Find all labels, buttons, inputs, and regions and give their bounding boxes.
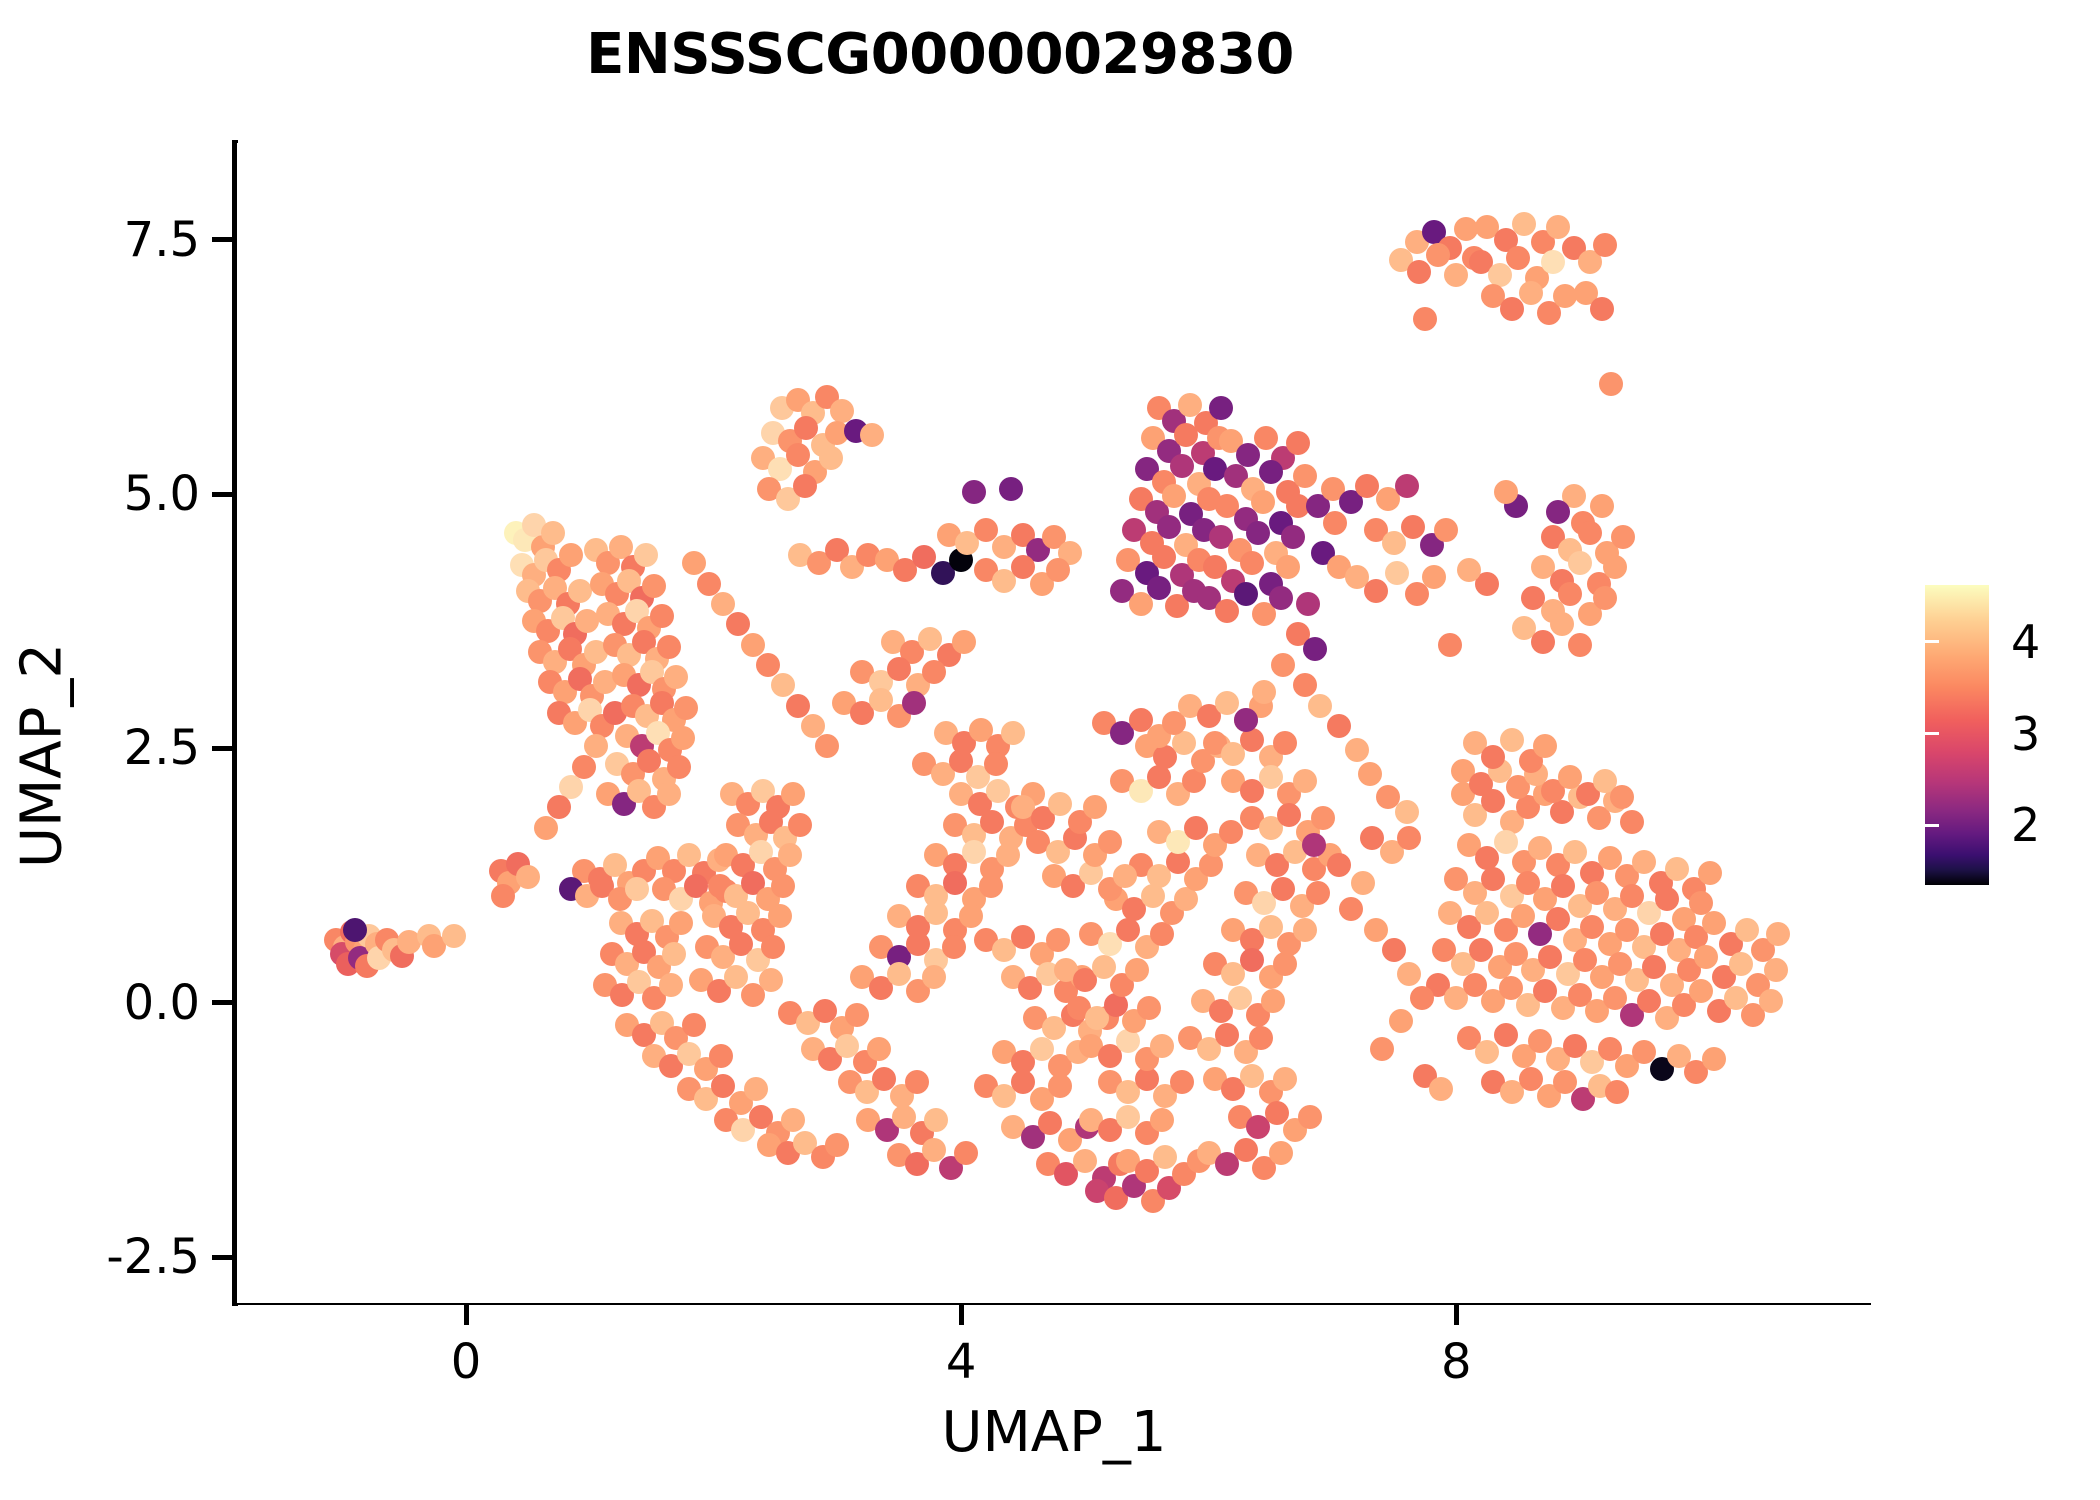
scatter-point	[1184, 816, 1208, 840]
scatter-point	[1500, 728, 1524, 752]
scatter-point	[1246, 521, 1270, 545]
scatter-point	[1240, 551, 1264, 575]
scatter-point	[1215, 599, 1239, 623]
scatter-point	[516, 865, 540, 889]
scatter-point	[1426, 243, 1450, 267]
scatter-point	[1519, 281, 1543, 305]
scatter-point	[1137, 996, 1161, 1020]
y-axis-tick-label: 7.5	[44, 212, 200, 268]
scatter-point	[942, 935, 966, 959]
scatter-point	[1234, 1138, 1258, 1162]
scatter-point	[1563, 840, 1587, 864]
scatter-point	[1729, 952, 1753, 976]
scatter-point	[343, 918, 367, 942]
scatter-point	[568, 579, 592, 603]
scatter-point	[999, 477, 1023, 501]
scatter-point	[1568, 633, 1592, 657]
scatter-point	[634, 543, 658, 567]
scatter-point	[1296, 592, 1320, 616]
scatter-point	[1494, 1023, 1518, 1047]
scatter-point	[1150, 922, 1174, 946]
scatter-point	[1293, 769, 1317, 793]
scatter-point	[1277, 803, 1301, 827]
x-axis-title: UMAP_1	[237, 1400, 1871, 1465]
colorbar-legend: 234	[1925, 585, 2090, 905]
colorbar-tick	[1925, 732, 1939, 735]
scatter-point	[1397, 962, 1421, 986]
scatter-point	[1302, 833, 1326, 857]
scatter-point	[1273, 1067, 1297, 1091]
scatter-point	[1030, 1037, 1054, 1061]
y-axis-tick-label: -2.5	[44, 1229, 200, 1285]
y-axis-tick	[212, 746, 232, 751]
x-axis-tick	[959, 1305, 964, 1325]
scatter-point	[1481, 745, 1505, 769]
scatter-point	[1568, 551, 1592, 575]
scatter-point	[442, 924, 466, 948]
scatter-point	[1364, 579, 1388, 603]
scatter-point	[801, 714, 825, 738]
scatter-point	[1358, 762, 1382, 786]
scatter-point	[1083, 795, 1107, 819]
scatter-point	[1351, 871, 1375, 895]
scatter-point	[674, 696, 698, 720]
chart-root: ENSSSCG00000029830 -2.50.02.55.07.5 048 …	[0, 0, 2100, 1500]
colorbar-tick-label: 4	[2011, 615, 2040, 669]
scatter-point	[1327, 714, 1351, 738]
scatter-point	[1150, 1108, 1174, 1132]
scatter-point	[1147, 576, 1171, 600]
y-axis-tick	[212, 237, 232, 242]
scatter-point	[664, 665, 688, 689]
colorbar-tick-label: 3	[2011, 707, 2040, 761]
scatter-point	[1046, 558, 1070, 582]
scatter-point	[771, 874, 795, 898]
scatter-point	[1327, 853, 1351, 877]
scatter-point	[1395, 800, 1419, 824]
scatter-point	[1702, 911, 1726, 935]
scatter-point	[788, 813, 812, 837]
scatter-point	[559, 543, 583, 567]
scatter-point	[1410, 986, 1434, 1010]
scatter-point	[1546, 907, 1570, 931]
colorbar-tick	[2076, 640, 2090, 643]
scatter-point	[1261, 989, 1285, 1013]
scatter-point	[547, 795, 571, 819]
scatter-point	[1048, 1074, 1072, 1098]
scatter-point	[922, 660, 946, 684]
scatter-point	[1252, 680, 1276, 704]
scatter-point	[1011, 1070, 1035, 1094]
scatter-point	[541, 521, 565, 545]
scatter-point	[1593, 233, 1617, 257]
scatter-point	[1759, 989, 1783, 1013]
scatter-point	[671, 726, 695, 750]
scatter-point	[1512, 212, 1536, 236]
scatter-point	[1531, 630, 1555, 654]
scatter-point	[1546, 215, 1570, 239]
scatter-point	[1620, 810, 1644, 834]
scatter-panel	[237, 143, 1871, 1303]
scatter-point	[1665, 857, 1689, 881]
scatter-point	[819, 446, 843, 470]
x-axis-tick-label: 4	[881, 1334, 1041, 1390]
scatter-point	[1382, 938, 1406, 962]
scatter-point	[984, 752, 1008, 776]
scatter-point	[1073, 1149, 1097, 1173]
scatter-point	[1038, 1111, 1062, 1135]
scatter-point	[534, 816, 558, 840]
scatter-point	[642, 574, 666, 598]
scatter-point	[1234, 708, 1258, 732]
scatter-point	[1011, 555, 1035, 579]
scatter-point	[1308, 694, 1332, 718]
scatter-point	[1766, 922, 1790, 946]
scatter-point	[1303, 637, 1327, 661]
scatter-point	[786, 694, 810, 718]
scatter-point	[1655, 887, 1679, 911]
scatter-point	[709, 1044, 733, 1068]
scatter-point	[491, 884, 515, 908]
x-axis-tick	[1454, 1305, 1459, 1325]
colorbar-tick	[2076, 732, 2090, 735]
scatter-point	[1422, 565, 1446, 589]
scatter-point	[1125, 958, 1149, 982]
scatter-point	[1401, 515, 1425, 539]
scatter-point	[905, 1070, 929, 1094]
scatter-point	[1269, 586, 1293, 610]
scatter-point	[1593, 586, 1617, 610]
scatter-point	[697, 572, 721, 596]
scatter-point	[952, 630, 976, 654]
scatter-point	[1271, 653, 1295, 677]
scatter-point	[682, 1013, 706, 1037]
scatter-point	[1610, 785, 1634, 809]
scatter-point	[1370, 1037, 1394, 1061]
scatter-point	[1494, 830, 1518, 854]
scatter-point	[1098, 830, 1122, 854]
scatter-point	[1271, 877, 1295, 901]
scatter-point	[1170, 454, 1194, 478]
scatter-point	[1764, 958, 1788, 982]
scatter-point	[1345, 738, 1369, 762]
scatter-point	[1249, 1026, 1273, 1050]
scatter-point	[1001, 721, 1025, 745]
scatter-point	[1219, 820, 1243, 844]
scatter-point	[761, 935, 785, 959]
scatter-point	[1116, 918, 1140, 942]
scatter-point	[667, 755, 691, 779]
scatter-point	[657, 782, 681, 806]
scatter-point	[1590, 494, 1614, 518]
scatter-point	[781, 1108, 805, 1132]
scatter-point	[1385, 561, 1409, 585]
scatter-point	[1150, 1034, 1174, 1058]
scatter-point	[1444, 263, 1468, 287]
scatter-point	[1011, 925, 1035, 949]
scatter-point	[1286, 431, 1310, 455]
scatter-point	[1215, 691, 1239, 715]
scatter-point	[771, 673, 795, 697]
scatter-point	[1389, 1009, 1413, 1033]
scatter-point	[1273, 731, 1297, 755]
x-axis-tick-label: 8	[1376, 1334, 1536, 1390]
scatter-point	[1355, 474, 1379, 498]
scatter-point	[1172, 731, 1196, 755]
colorbar-tick	[1925, 824, 1939, 827]
scatter-point	[1578, 521, 1602, 545]
scatter-point	[1735, 918, 1759, 942]
scatter-point	[1259, 915, 1283, 939]
scatter-point	[1170, 1070, 1194, 1094]
scatter-point	[657, 635, 681, 659]
scatter-point	[1506, 246, 1530, 270]
x-axis-tick-label: 0	[386, 1334, 546, 1390]
scatter-point	[1603, 555, 1627, 579]
scatter-point	[1298, 1105, 1322, 1129]
scatter-point	[1541, 250, 1565, 274]
scatter-point	[979, 874, 1003, 898]
scatter-point	[1546, 500, 1570, 524]
scatter-point	[1293, 918, 1317, 942]
scatter-point	[1605, 1080, 1629, 1104]
scatter-point	[1273, 952, 1297, 976]
scatter-point	[924, 1108, 948, 1132]
scatter-point	[1092, 955, 1116, 979]
scatter-point	[650, 604, 674, 628]
scatter-point	[781, 782, 805, 806]
scatter-point	[1698, 861, 1722, 885]
scatter-point	[922, 965, 946, 989]
y-axis-tick	[212, 492, 232, 497]
scatter-point	[1293, 464, 1317, 488]
scatter-point	[1611, 525, 1635, 549]
scatter-point	[1551, 874, 1575, 898]
scatter-point	[1689, 979, 1713, 1003]
scatter-point	[1434, 518, 1458, 542]
scatter-point	[1558, 582, 1582, 606]
scatter-point	[1046, 928, 1070, 952]
scatter-point	[1500, 297, 1524, 321]
scatter-point	[1438, 633, 1462, 657]
scatter-point	[1702, 1047, 1726, 1071]
scatter-point	[825, 1133, 849, 1157]
scatter-point	[954, 1141, 978, 1165]
scatter-point	[1694, 945, 1718, 969]
y-axis-title: UMAP_2	[10, 456, 75, 1056]
colorbar-tick	[2076, 824, 2090, 827]
scatter-point	[1397, 826, 1421, 850]
scatter-point	[759, 968, 783, 992]
scatter-point	[1494, 480, 1518, 504]
scatter-point	[1311, 806, 1335, 830]
scatter-point	[1269, 1141, 1293, 1165]
scatter-point	[1364, 918, 1388, 942]
scatter-point	[1481, 867, 1505, 891]
scatter-point	[1457, 558, 1481, 582]
scatter-point	[1533, 734, 1557, 758]
scatter-point	[793, 474, 817, 498]
scatter-point	[1323, 511, 1347, 535]
scatter-point	[1209, 396, 1233, 420]
scatter-point	[1407, 260, 1431, 284]
scatter-point	[1590, 297, 1614, 321]
scatter-point	[845, 1003, 869, 1027]
scatter-point	[1113, 864, 1137, 888]
scatter-point	[1339, 897, 1363, 921]
colorbar-tick	[1925, 640, 1939, 643]
scatter-point	[741, 633, 765, 657]
scatter-point	[962, 480, 986, 504]
scatter-point	[860, 423, 884, 447]
scatter-point	[867, 1037, 891, 1061]
scatter-point	[726, 612, 750, 636]
scatter-point	[1632, 850, 1656, 874]
colorbar-tick-label: 2	[2011, 798, 2040, 852]
scatter-point	[756, 653, 780, 677]
y-axis-tick	[212, 1255, 232, 1260]
scatter-point	[1281, 525, 1305, 549]
scatter-point	[1234, 582, 1258, 606]
scatter-point	[815, 734, 839, 758]
scatter-point	[1306, 881, 1330, 905]
y-axis-tick	[212, 1000, 232, 1005]
scatter-point	[1293, 673, 1317, 697]
scatter-point	[1599, 372, 1623, 396]
scatter-point	[778, 843, 802, 867]
scatter-point	[662, 942, 686, 966]
scatter-point	[659, 973, 683, 997]
scatter-point	[1254, 426, 1278, 450]
scatter-point	[1251, 490, 1275, 514]
scatter-point	[1429, 1077, 1453, 1101]
scatter-point	[1240, 948, 1264, 972]
scatter-point	[1116, 1029, 1140, 1053]
scatter-point	[1475, 1040, 1499, 1064]
scatter-point	[1413, 307, 1437, 331]
scatter-point	[1550, 612, 1574, 636]
scatter-point	[1259, 460, 1283, 484]
scatter-point	[996, 843, 1020, 867]
page-title: ENSSSCG00000029830	[0, 22, 1880, 87]
scatter-point	[744, 1077, 768, 1101]
x-axis-tick	[464, 1305, 469, 1325]
scatter-point	[1048, 792, 1072, 816]
scatter-point	[625, 877, 649, 901]
scatter-point	[669, 911, 693, 935]
scatter-point	[902, 691, 926, 715]
scatter-point	[1395, 474, 1419, 498]
scatter-point	[1469, 938, 1493, 962]
scatter-point	[1199, 853, 1223, 877]
scatter-point	[768, 904, 792, 928]
scatter-point	[1276, 555, 1300, 579]
scatter-point	[682, 551, 706, 575]
scatter-point	[959, 904, 983, 928]
